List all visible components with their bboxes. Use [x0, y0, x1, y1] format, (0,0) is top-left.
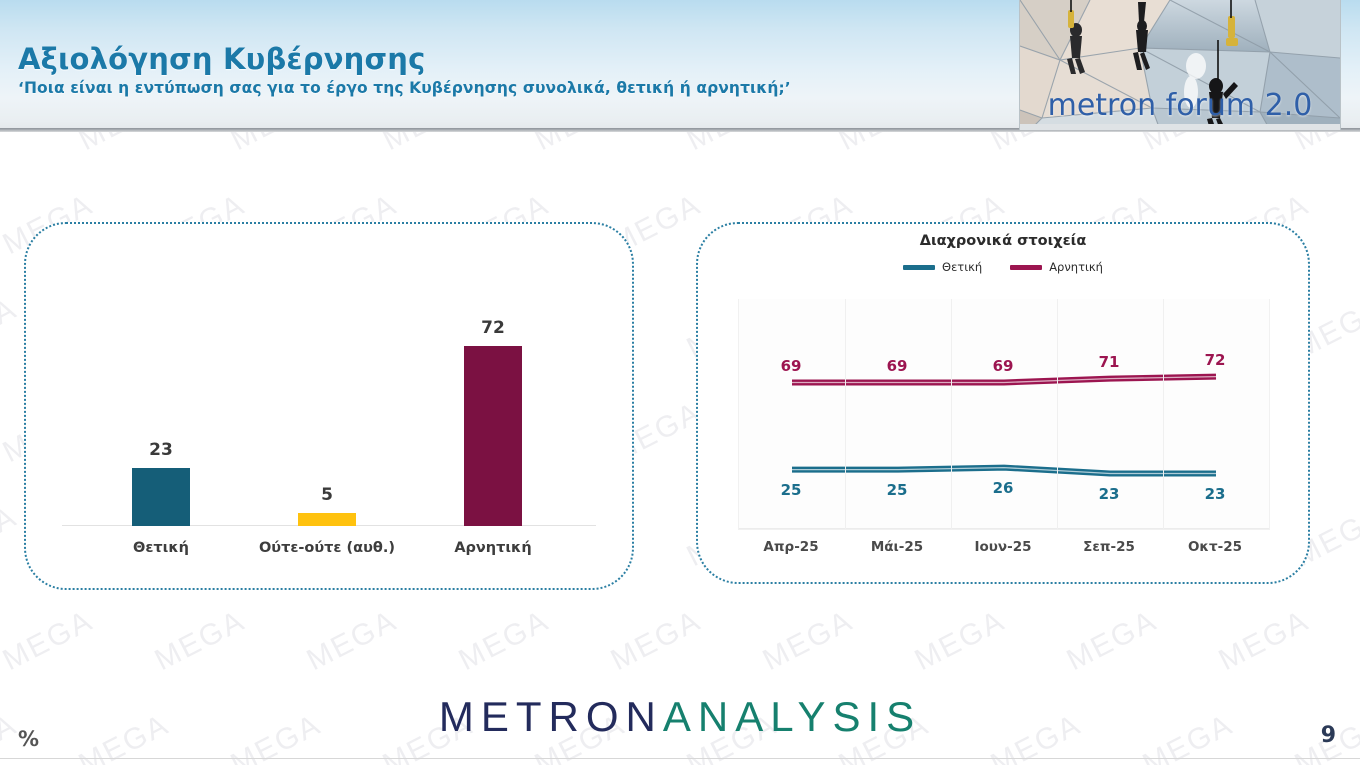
panel-trend: Διαχρονικά στοιχεία ΘετικήΑρνητική 25252… [696, 222, 1310, 584]
data-label: 25 [867, 481, 927, 499]
watermark-text: MEGA [302, 604, 403, 678]
x-axis-label: Σεπ-25 [1059, 539, 1159, 555]
legend-swatch-icon [1010, 265, 1042, 270]
watermark-text: MEGA [758, 604, 859, 678]
bar-group: 72Αρνητική [410, 276, 576, 526]
metron-forum-logo: metron forum 2.0 [1019, 0, 1341, 130]
metron-analysis-wordmark: METRONANALYSIS [0, 693, 1360, 741]
bar-group: 5Ούτε-ούτε (αυθ.) [244, 276, 410, 526]
legend-item-1[interactable]: Θετική [903, 260, 982, 274]
slide-canvas: MEGAMEGAMEGAMEGAMEGAMEGAMEGAMEGAMEGAMEGA… [0, 0, 1360, 765]
legend-swatch-icon [903, 265, 935, 270]
data-label: 26 [973, 479, 1033, 497]
data-label: 69 [867, 357, 927, 375]
data-label: 72 [1185, 351, 1245, 369]
x-axis-label: Απρ-25 [741, 539, 841, 555]
page-title: Αξιολόγηση Κυβέρνησης [18, 42, 426, 76]
legend-label: Θετική [942, 260, 982, 274]
watermark-text: MEGA [0, 292, 23, 366]
data-label: 71 [1079, 353, 1139, 371]
bar-value-label: 5 [244, 485, 410, 505]
data-label: 25 [761, 481, 821, 499]
gridline-vertical [1057, 299, 1058, 529]
bar-group: 23Θετική [78, 276, 244, 526]
legend-label: Αρνητική [1049, 260, 1103, 274]
page-subtitle: ‘Ποια είναι η εντύπωση σας για το έργο τ… [18, 79, 791, 97]
line-chart-legend: ΘετικήΑρνητική [698, 260, 1308, 274]
bar-value-label: 72 [410, 318, 576, 338]
data-label: 23 [1185, 485, 1245, 503]
watermark-text: MEGA [1214, 604, 1315, 678]
watermark-text: MEGA [150, 604, 251, 678]
bar-3 [464, 346, 522, 526]
logo-wordmark: metron forum 2.0 [1020, 88, 1340, 123]
page-number: 9 [1321, 723, 1336, 748]
x-axis-label: Οκτ-25 [1165, 539, 1265, 555]
bar-2 [298, 513, 356, 526]
gridline-vertical [845, 299, 846, 529]
x-axis-label: Μάι-25 [847, 539, 947, 555]
wordmark-analysis: ANALYSIS [663, 693, 921, 740]
data-label: 69 [973, 357, 1033, 375]
bar-category-label: Αρνητική [390, 540, 596, 556]
series-line-outer-1 [792, 468, 1216, 474]
watermark-text: MEGA [606, 604, 707, 678]
watermark-text: MEGA [0, 500, 23, 574]
watermark-text: MEGA [1062, 604, 1163, 678]
data-label: 23 [1079, 485, 1139, 503]
watermark-text: MEGA [454, 604, 555, 678]
bar-1 [132, 468, 190, 526]
line-chart: Διαχρονικά στοιχεία ΘετικήΑρνητική 25252… [698, 224, 1308, 582]
panel-current-evaluation: 23Θετική5Ούτε-ούτε (αυθ.)72Αρνητική [24, 222, 634, 590]
wordmark-metron: METRON [439, 693, 663, 740]
legend-item-2[interactable]: Αρνητική [1010, 260, 1103, 274]
logo-bottom-strip [1020, 124, 1340, 130]
watermark-text: MEGA [0, 604, 99, 678]
data-label: 69 [761, 357, 821, 375]
gridline-vertical [1163, 299, 1164, 529]
footer-divider [0, 758, 1360, 759]
line-chart-title: Διαχρονικά στοιχεία [698, 233, 1308, 249]
gridline-vertical [951, 299, 952, 529]
percent-unit-label: % [18, 727, 39, 751]
watermark-text: MEGA [910, 604, 1011, 678]
bar-chart: 23Θετική5Ούτε-ούτε (αυθ.)72Αρνητική [26, 224, 632, 588]
bar-value-label: 23 [78, 440, 244, 460]
x-axis-label: Ιουν-25 [953, 539, 1053, 555]
